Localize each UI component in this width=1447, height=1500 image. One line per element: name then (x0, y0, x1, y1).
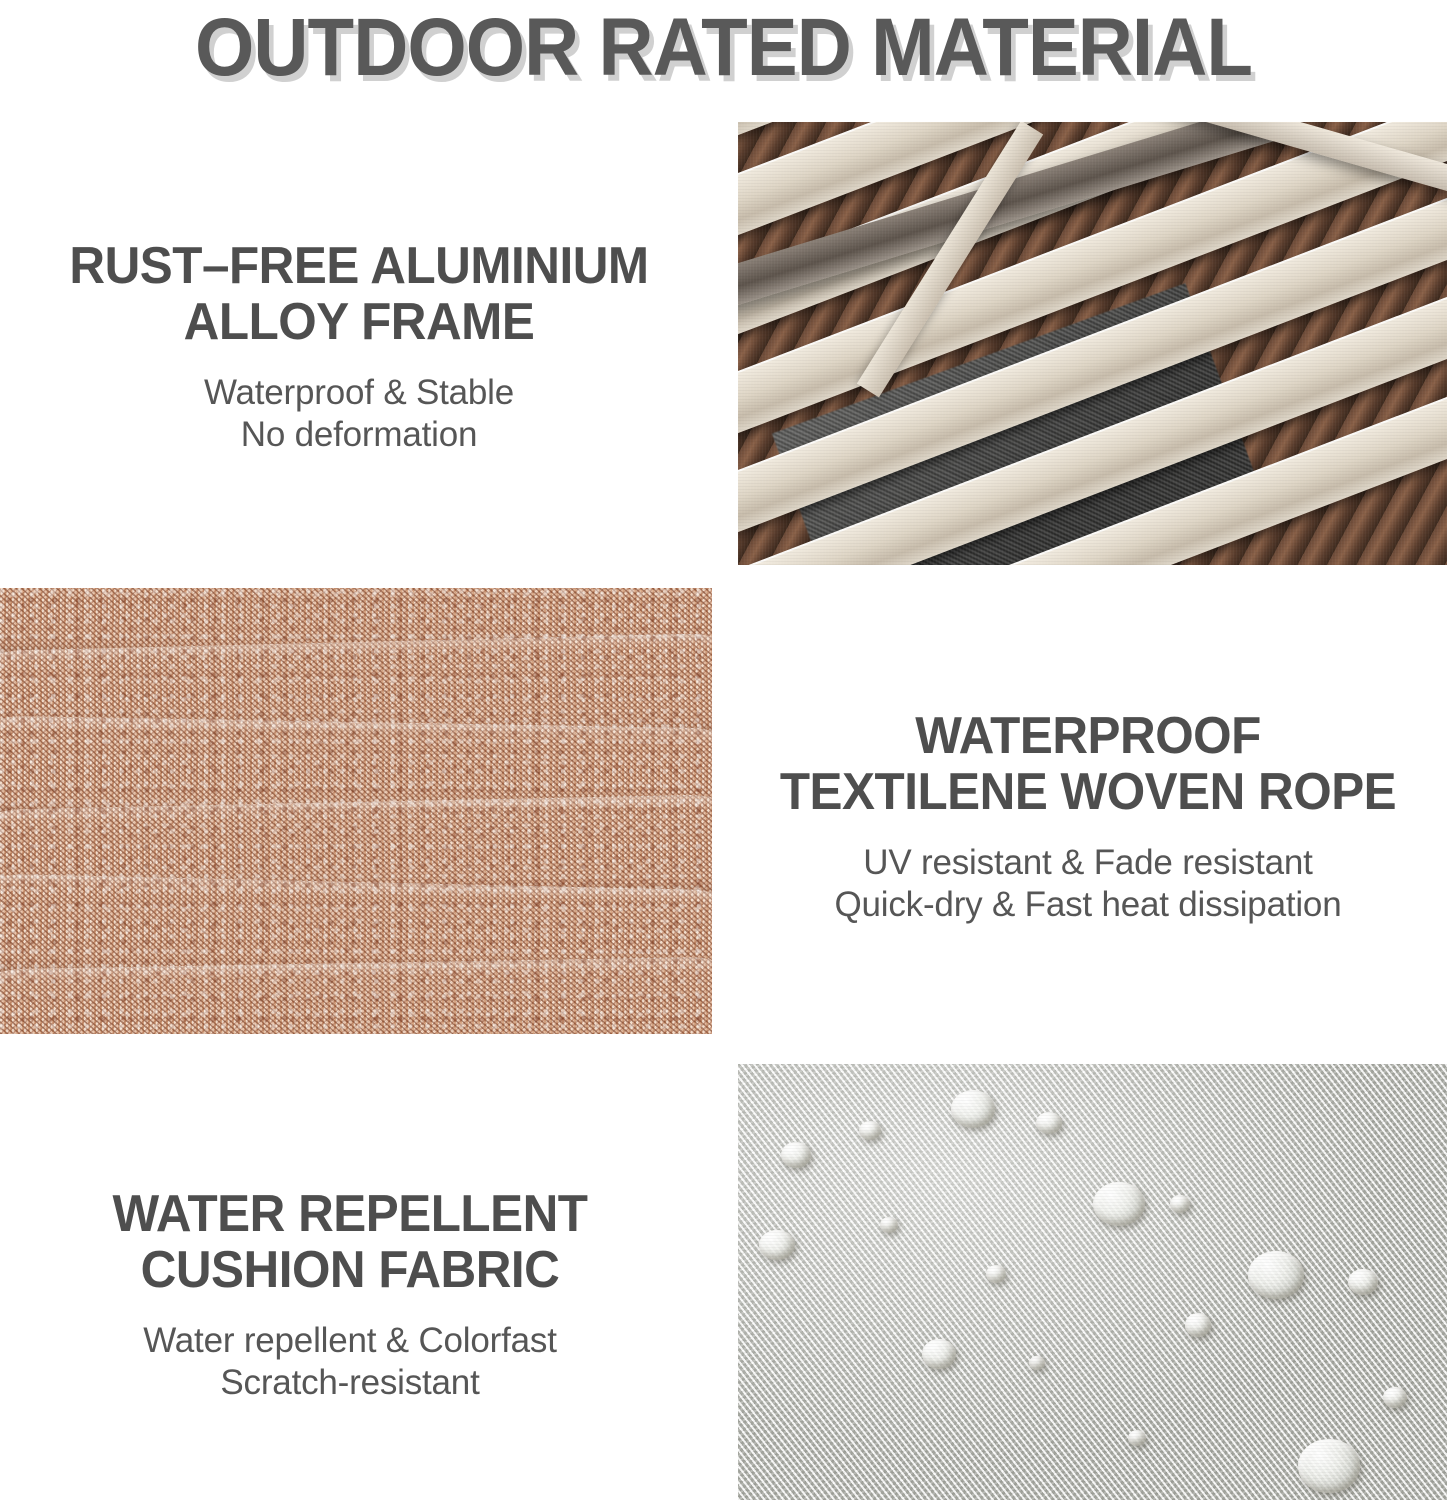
feature-text-rust-free-aluminium-alloy-frame: RUST–FREE ALUMINIUM ALLOY FRAME Waterpro… (0, 238, 718, 456)
feature-heading: WATER REPELLENT CUSHION FABRIC (18, 1186, 683, 1298)
aluminium-slat-frame-photo (738, 122, 1447, 565)
textilene-woven-rope-photo (0, 588, 712, 1034)
water-droplet (951, 1090, 995, 1128)
water-droplet (1036, 1112, 1062, 1134)
feature-subtext: UV resistant & Fade resistant Quick-dry … (729, 842, 1447, 926)
water-droplet (1298, 1439, 1360, 1493)
feature-text-waterproof-textilene-woven-rope: WATERPROOF TEXTILENE WOVEN ROPE UV resis… (729, 708, 1447, 926)
feature-subtext: Water repellent & Colorfast Scratch-resi… (0, 1320, 700, 1404)
fabric-sheen (738, 1064, 1447, 1500)
water-droplet (1383, 1387, 1407, 1408)
water-repellent-fabric-photo (738, 1064, 1447, 1500)
water-droplet (781, 1142, 811, 1168)
page-title: OUTDOOR RATED MATERIAL (51, 0, 1397, 95)
feature-heading: WATERPROOF TEXTILENE WOVEN ROPE (747, 708, 1429, 820)
water-droplet (1185, 1313, 1211, 1337)
water-droplet (922, 1339, 956, 1369)
water-droplet (1093, 1182, 1145, 1226)
outdoor-rated-material-infographic: OUTDOOR RATED MATERIAL RUST–FREE ALUMINI… (0, 0, 1447, 1500)
water-droplet (759, 1230, 795, 1260)
water-droplet (986, 1265, 1006, 1283)
feature-subtext: Waterproof & Stable No deformation (0, 372, 718, 456)
water-droplet (1029, 1356, 1045, 1370)
woven-straps-group (0, 588, 712, 1034)
feature-heading: RUST–FREE ALUMINIUM ALLOY FRAME (18, 238, 700, 350)
feature-text-water-repellent-cushion-fabric: WATER REPELLENT CUSHION FABRIC Water rep… (0, 1186, 700, 1404)
water-droplet (880, 1217, 898, 1233)
water-droplet (859, 1121, 881, 1140)
water-droplet (1348, 1269, 1378, 1295)
